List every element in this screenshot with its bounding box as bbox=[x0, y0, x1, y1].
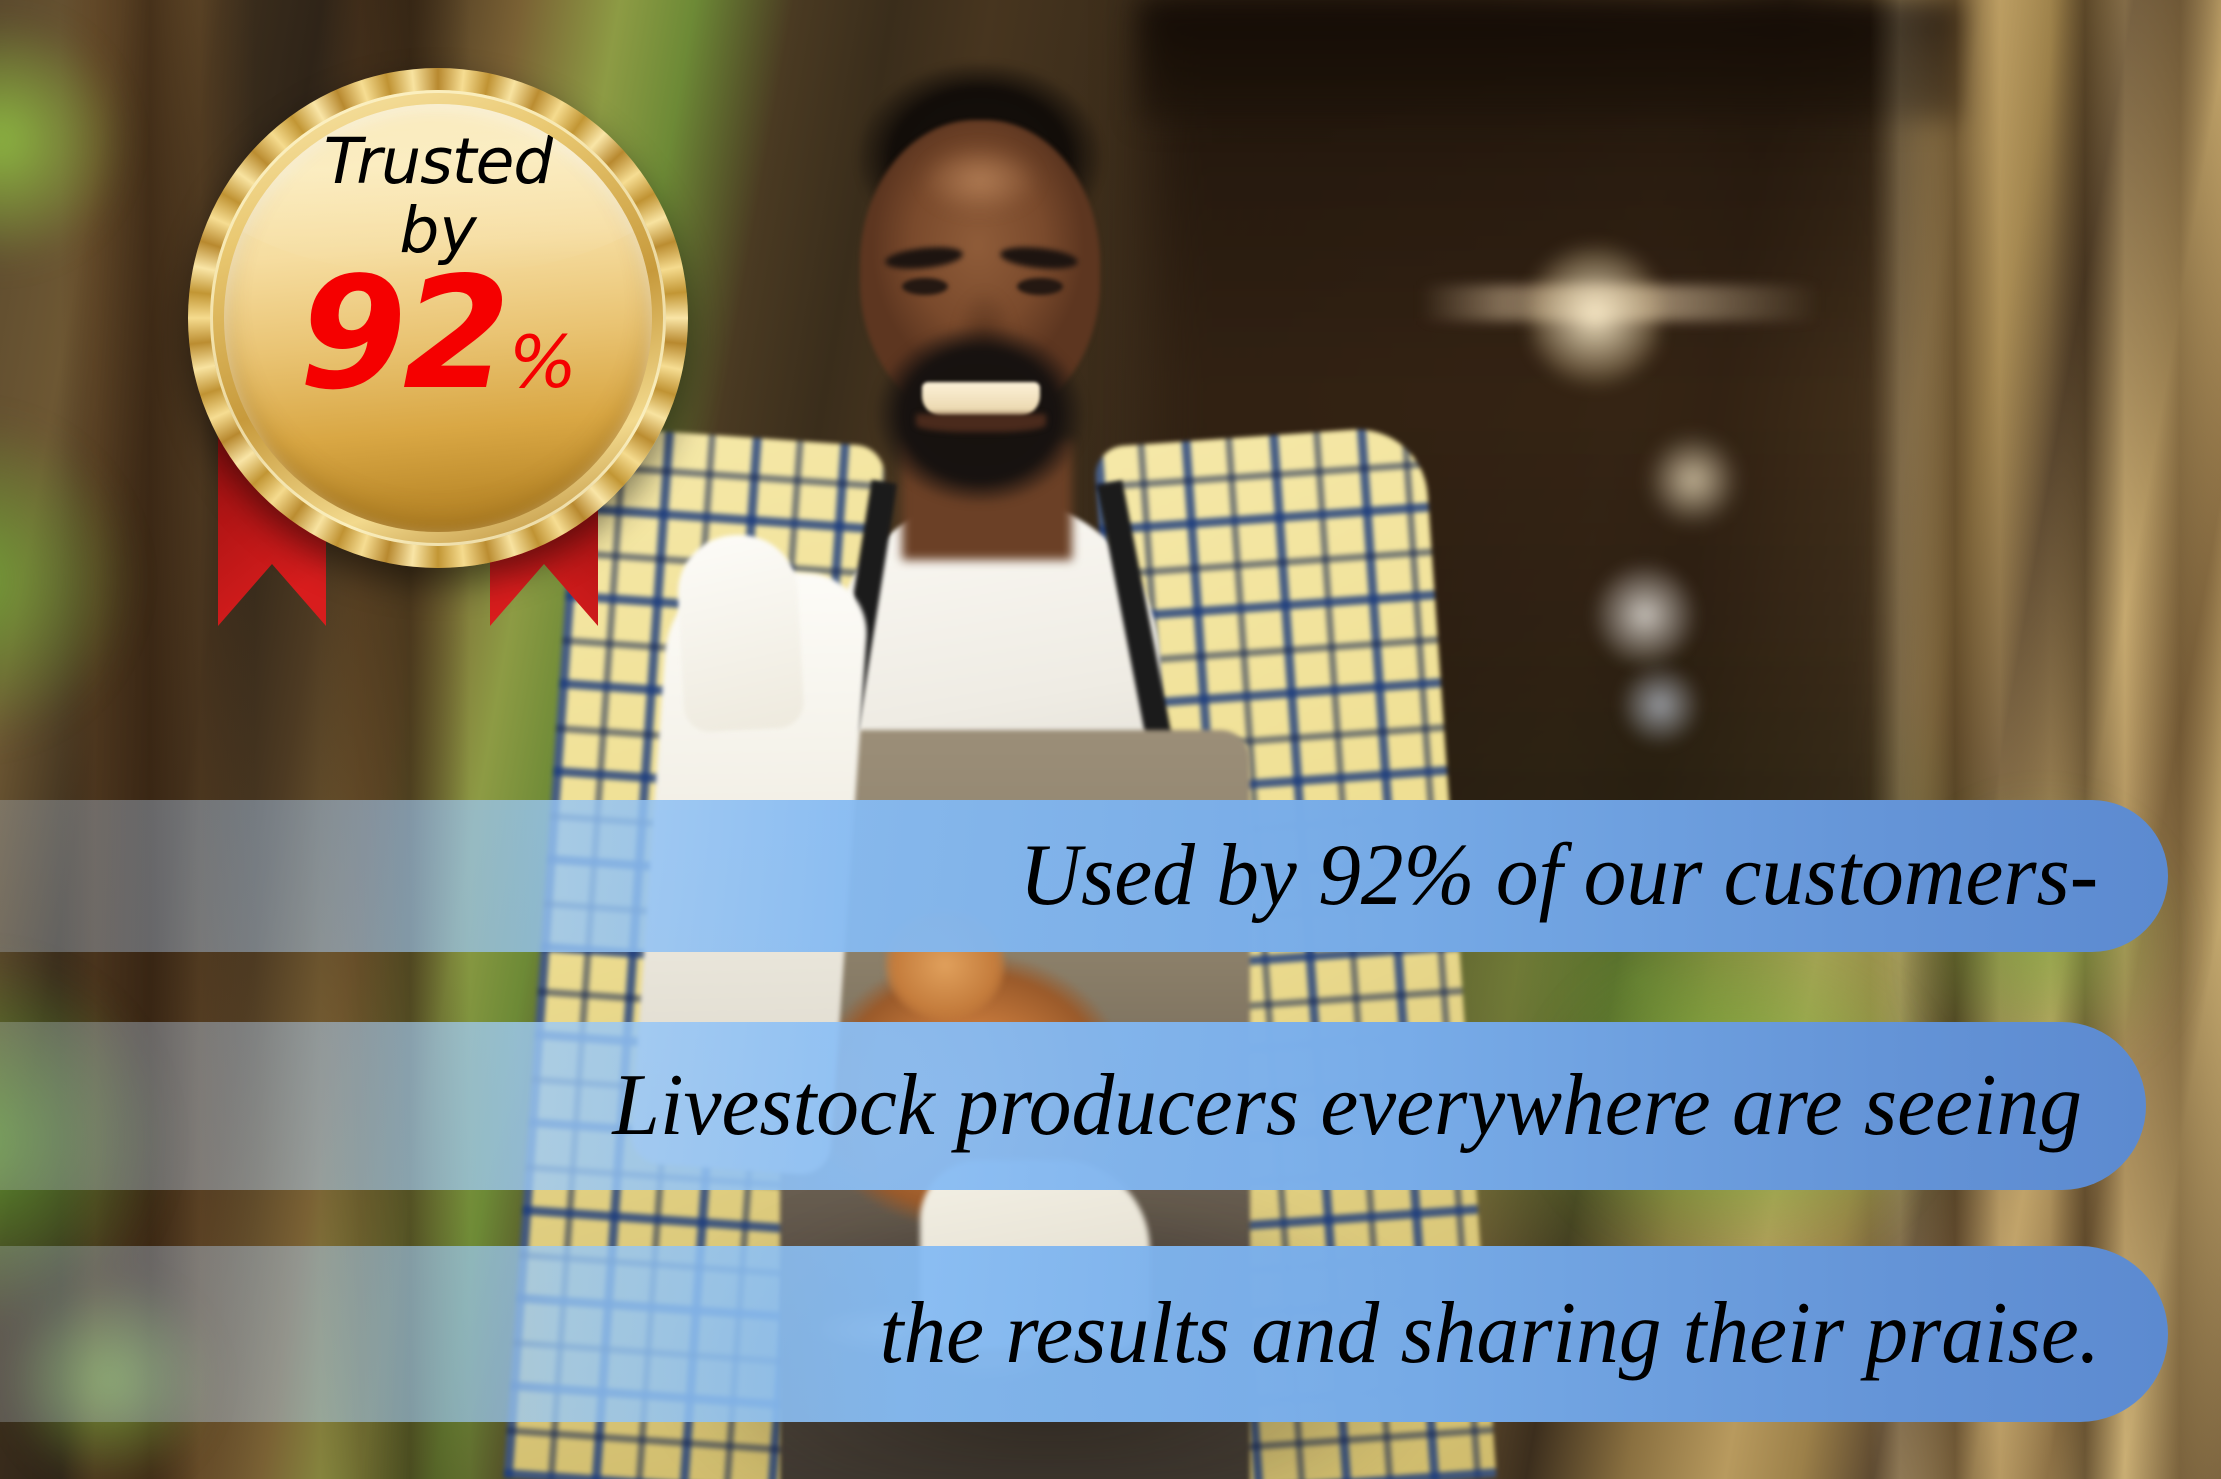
badge-line-trusted: Trusted bbox=[324, 130, 553, 193]
message-banner-2: Livestock producers everywhere are seein… bbox=[0, 1022, 2146, 1190]
message-banner-1-text: Used by 92% of our customers- bbox=[65, 832, 2168, 920]
lower-lip bbox=[916, 414, 1046, 432]
coin-face: Trusted by 92 % bbox=[224, 104, 652, 532]
eye-right bbox=[1017, 278, 1063, 295]
trusted-by-badge: Trusted by 92 % bbox=[128, 38, 688, 758]
badge-percent-symbol: % bbox=[509, 326, 577, 398]
forehead-highlight bbox=[920, 145, 1040, 215]
message-banner-1: Used by 92% of our customers- bbox=[0, 800, 2168, 952]
message-banner-3: the results and sharing their praise. bbox=[0, 1246, 2168, 1422]
promo-image-canvas: Trusted by 92 % Used by 92% of our custo… bbox=[0, 0, 2221, 1479]
smile-teeth bbox=[922, 382, 1040, 416]
badge-text-group: Trusted by 92 % bbox=[224, 104, 652, 532]
badge-percentage-row: 92 % bbox=[299, 256, 577, 411]
eye-left bbox=[902, 278, 948, 295]
message-banner-3-text: the results and sharing their praise. bbox=[65, 1290, 2168, 1378]
gold-medal-coin: Trusted by 92 % bbox=[188, 68, 688, 568]
thumbs-up-hand bbox=[675, 532, 805, 733]
message-banner-2-text: Livestock producers everywhere are seein… bbox=[64, 1062, 2146, 1150]
badge-percentage-number: 92 bbox=[299, 256, 507, 411]
